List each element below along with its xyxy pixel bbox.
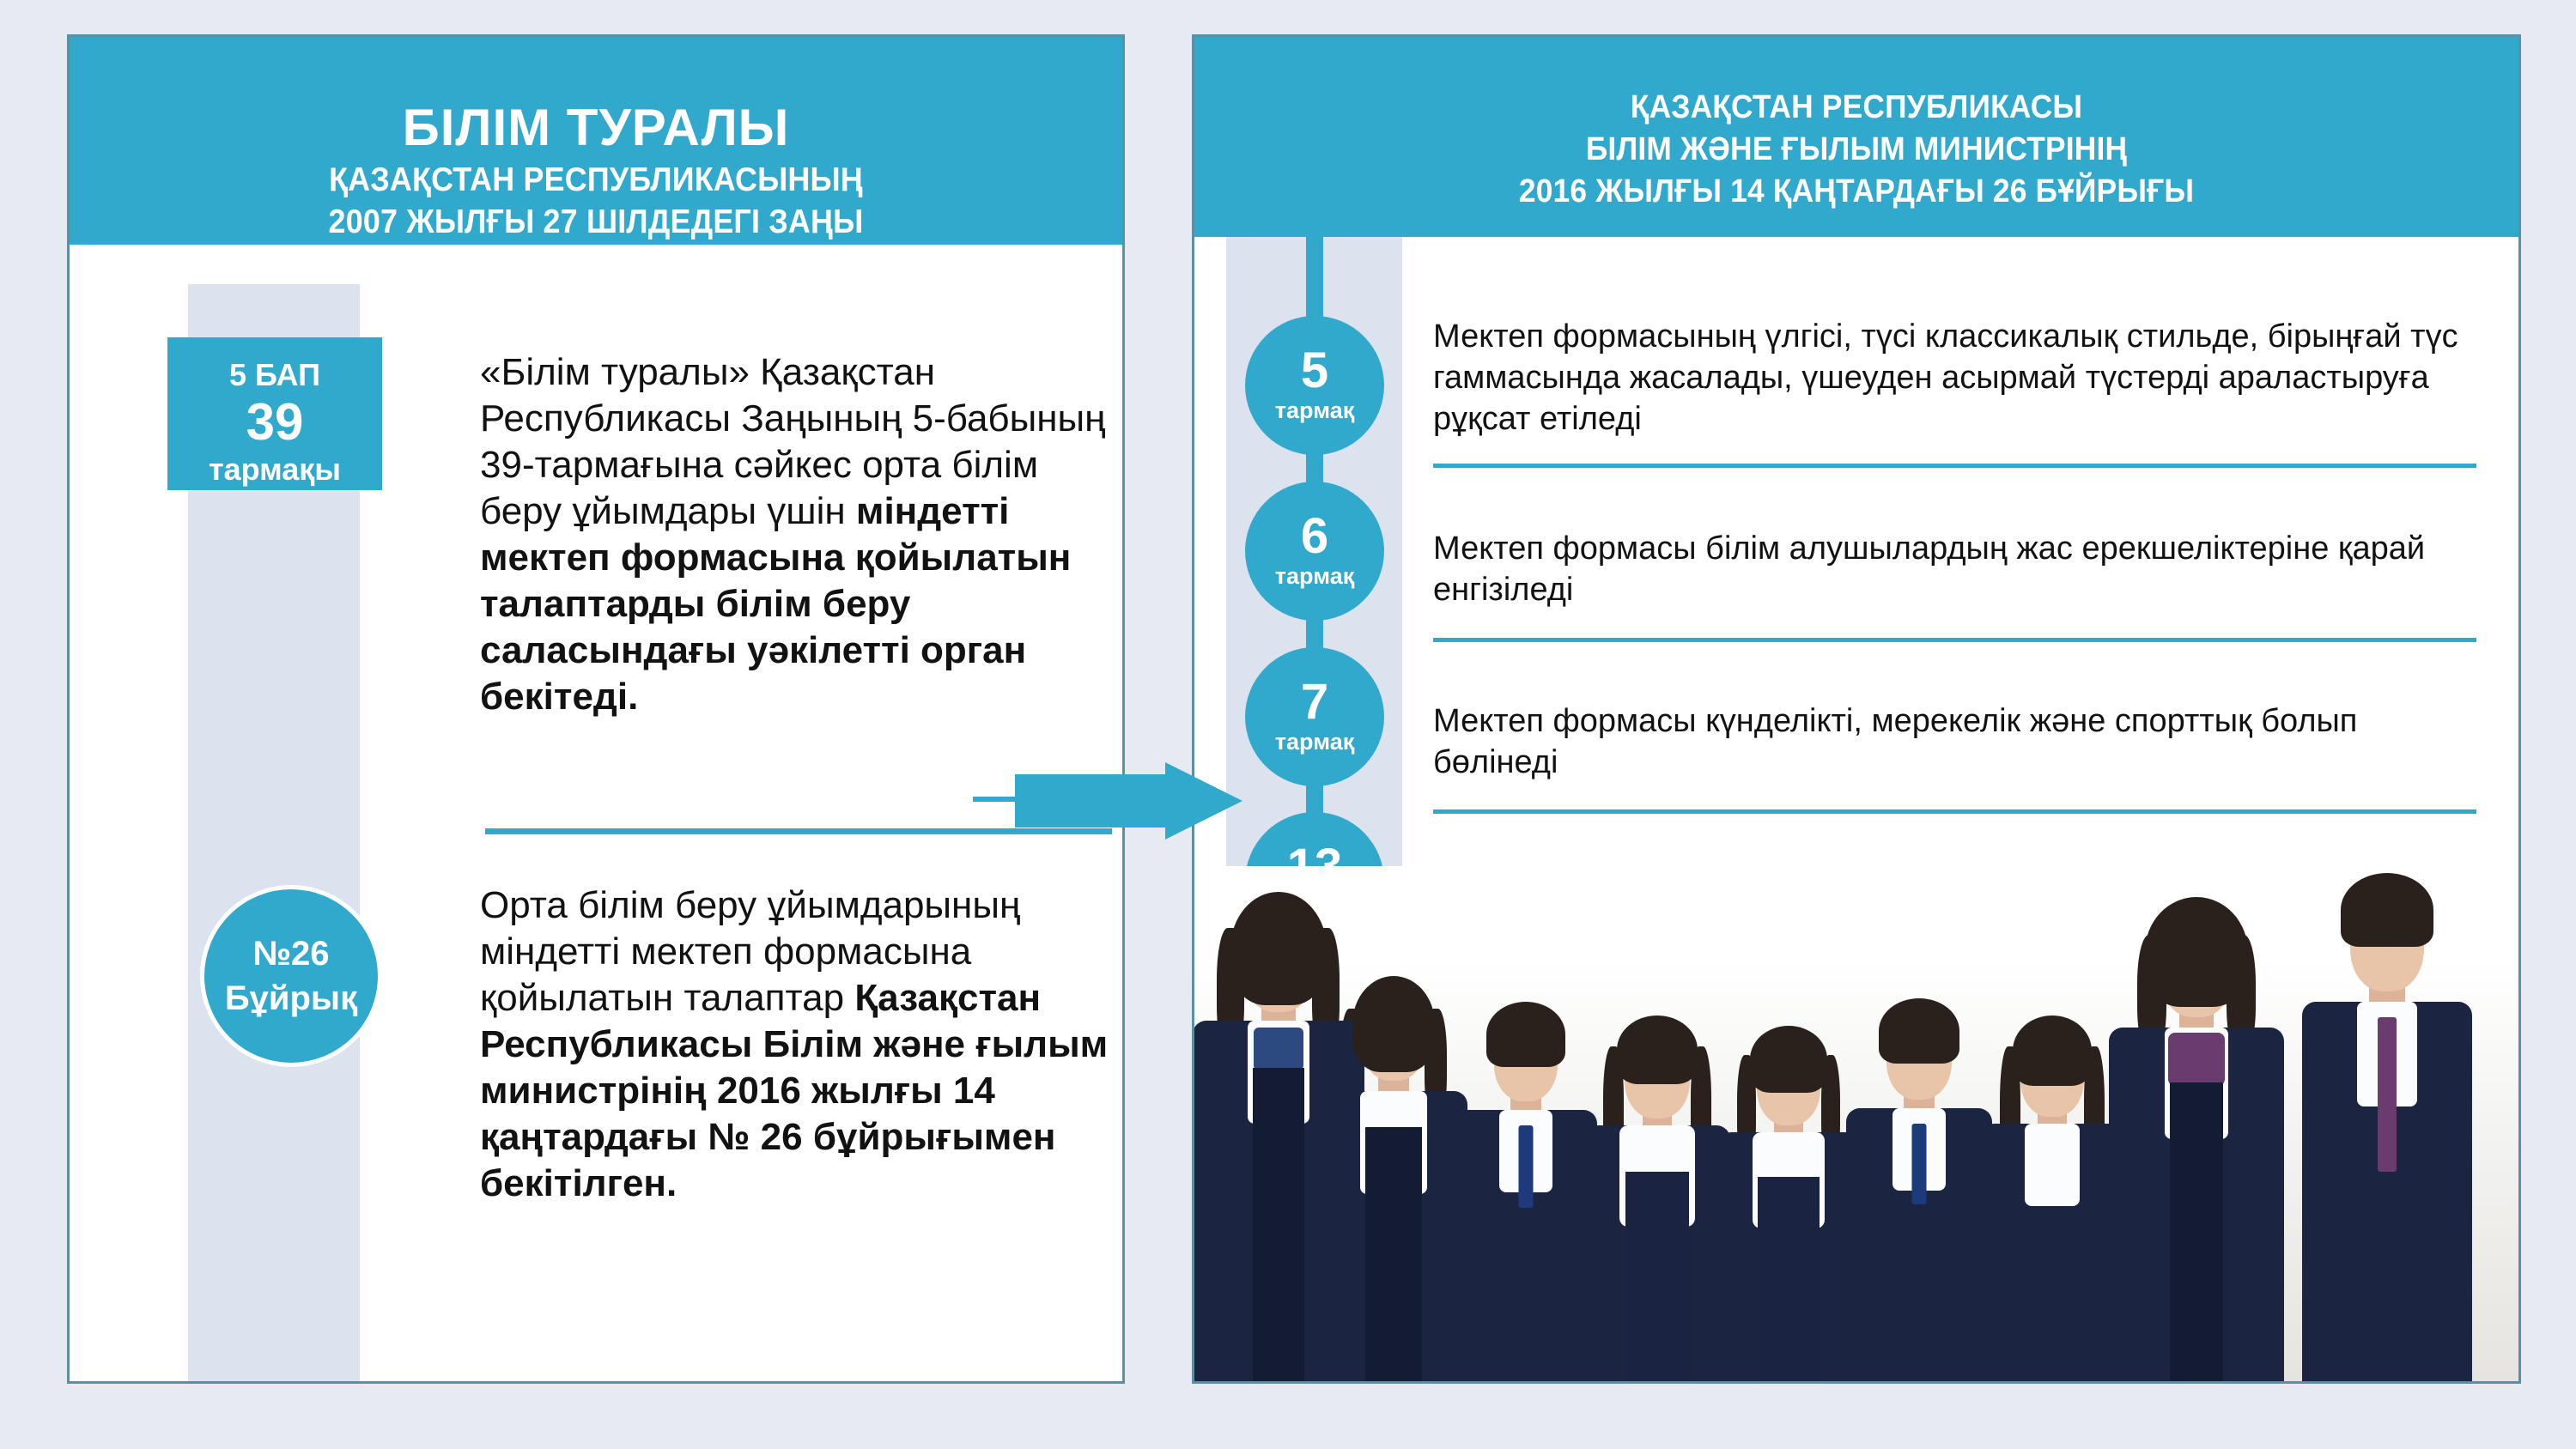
student-figure <box>1844 993 1995 1381</box>
law-panel-subtitle-line1: ҚАЗАҚСТАН РЕСПУБЛИКАСЫНЫҢ <box>112 159 1080 201</box>
clause-divider-2 <box>1433 638 2476 642</box>
law-panel: БІЛІМ ТУРАЛЫ ҚАЗАҚСТАН РЕСПУБЛИКАСЫНЫҢ 2… <box>67 34 1125 1384</box>
order-badge-line2: Бұйрық <box>225 976 357 1021</box>
order-panel-header-line1: ҚАЗАҚСТАН РЕСПУБЛИКАСЫ <box>1241 87 2472 129</box>
clause-text-5: Мектеп формасының үлгісі, түсі классикал… <box>1433 316 2481 440</box>
student-figure <box>1452 997 1600 1381</box>
order-badge-line1: №26 <box>252 931 329 976</box>
clause-circle-7-number: 7 <box>1301 677 1328 727</box>
clause-divider-1 <box>1433 464 2476 468</box>
order-panel: ҚАЗАҚСТАН РЕСПУБЛИКАСЫ БІЛІМ ЖӘНЕ ҒЫЛЫМ … <box>1192 34 2521 1384</box>
order-panel-header: ҚАЗАҚСТАН РЕСПУБЛИКАСЫ БІЛІМ ЖӘНЕ ҒЫЛЫМ … <box>1194 37 2518 237</box>
clause-circle-7-label: тармақ <box>1275 727 1355 756</box>
student-figure <box>2295 870 2479 1381</box>
law-paragraph-1: «Білім туралы» Қазақстан Республикасы За… <box>480 349 1115 720</box>
clause-circle-7[interactable]: 7 тармақ <box>1245 647 1384 786</box>
clause-divider-3 <box>1433 809 2476 814</box>
clause-text-7: Мектеп формасы күнделікті, мерекелік жән… <box>1433 700 2481 783</box>
law-paragraph-1-normal: «Білім туралы» Қазақстан Республикасы За… <box>480 351 1105 532</box>
clause-circle-6[interactable]: 6 тармақ <box>1245 482 1384 621</box>
clause-circle-5-label: тармақ <box>1275 396 1355 425</box>
article-badge: 5 БАП 39 тармақы <box>167 337 382 490</box>
clause-circle-6-number: 6 <box>1301 512 1328 561</box>
article-badge-top: 5 БАП <box>167 356 382 394</box>
order-badge: №26 Бұйрық <box>200 885 382 1067</box>
clause-circle-6-label: тармақ <box>1275 561 1355 591</box>
law-panel-subtitle-line2: 2007 ЖЫЛҒЫ 27 ШІЛДЕДЕГІ ЗАҢЫ <box>112 201 1080 243</box>
clause-circle-5[interactable]: 5 тармақ <box>1245 316 1384 455</box>
student-figure <box>1715 1022 1862 1381</box>
order-panel-header-line2: БІЛІМ ЖӘНЕ ҒЫЛЫМ МИНИСТРІНІҢ <box>1241 129 2472 171</box>
law-panel-header: БІЛІМ ТУРАЛЫ ҚАЗАҚСТАН РЕСПУБЛИКАСЫНЫҢ 2… <box>70 37 1122 245</box>
student-figure <box>1581 1012 1734 1381</box>
article-badge-number: 39 <box>167 394 382 451</box>
student-figure <box>2103 892 2290 1381</box>
arrow-right-icon <box>1015 762 1242 840</box>
law-panel-title: БІЛІМ ТУРАЛЫ <box>70 97 1122 159</box>
clause-text-6: Мектеп формасы білім алушылардың жас ере… <box>1433 528 2481 610</box>
arrow-stem <box>973 797 1019 802</box>
law-paragraph-2: Орта білім беру ұйымдарының міндетті мек… <box>480 882 1115 1207</box>
article-badge-bottom: тармақы <box>167 451 382 488</box>
clause-circle-5-number: 5 <box>1301 346 1328 396</box>
students-photo <box>1194 866 2518 1381</box>
order-panel-header-line3: 2016 ЖЫЛҒЫ 14 ҚАҢТАРДАҒЫ 26 БҰЙРЫҒЫ <box>1241 171 2472 213</box>
